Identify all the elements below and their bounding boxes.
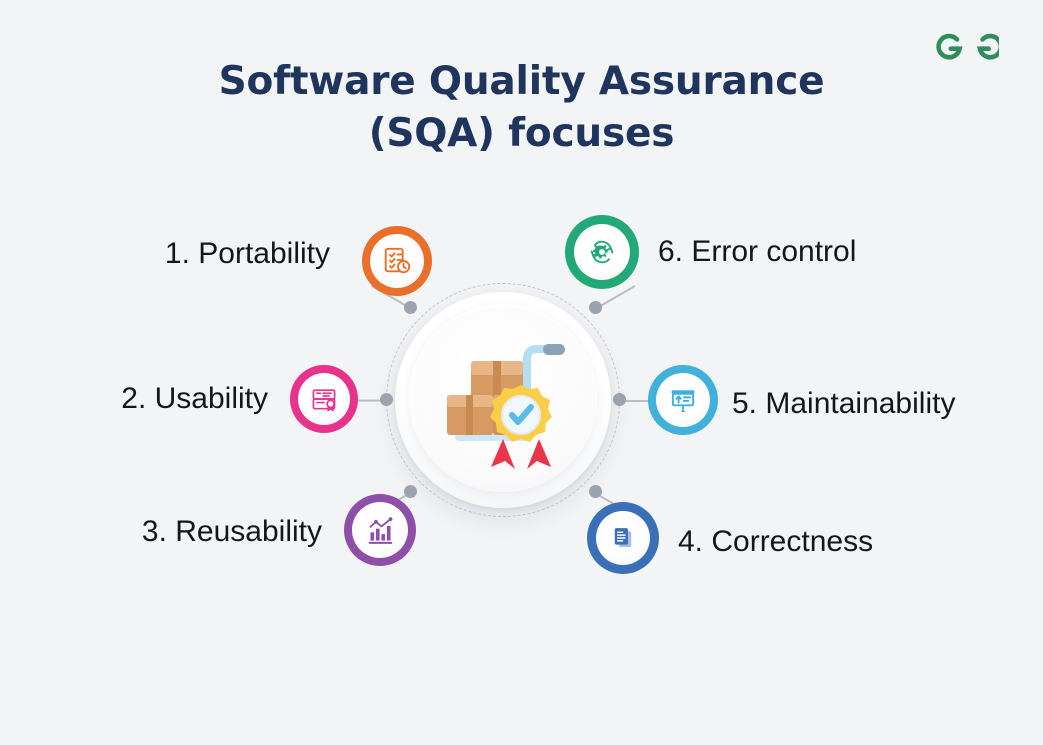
portability-icon-plate bbox=[370, 234, 424, 288]
focus-icon-reusability[interactable] bbox=[344, 494, 416, 566]
page-title-line-1: Software Quality Assurance bbox=[219, 59, 825, 104]
connector-dot-maintainability bbox=[613, 393, 626, 406]
presentation-board-icon bbox=[668, 385, 698, 415]
certificate-card-icon bbox=[309, 384, 339, 414]
page-title: Software Quality Assurance (SQA) focuses bbox=[0, 56, 1043, 160]
error-control-icon-plate bbox=[574, 224, 630, 280]
usability-icon-plate bbox=[298, 373, 350, 425]
gear-refresh-icon bbox=[586, 236, 618, 268]
maintainability-icon-plate bbox=[656, 373, 710, 427]
page-title-line-2: (SQA) focuses bbox=[0, 108, 1043, 160]
focus-icon-maintainability[interactable] bbox=[648, 365, 718, 435]
focus-icon-usability[interactable] bbox=[290, 365, 358, 433]
focus-label-error-control: 6. Error control bbox=[658, 234, 856, 270]
focus-label-correctness: 4. Correctness bbox=[678, 524, 873, 560]
focus-label-maintainability: 5. Maintainability bbox=[732, 386, 955, 422]
center-illustration bbox=[431, 333, 575, 469]
focus-label-reusability: 3. Reusability bbox=[0, 514, 334, 550]
sqa-focuses-infographic: Software Quality Assurance (SQA) focuses bbox=[0, 0, 1043, 745]
focus-label-usability: 2. Usability bbox=[0, 381, 280, 417]
checklist-clock-icon bbox=[381, 245, 413, 277]
focus-icon-error-control[interactable] bbox=[565, 215, 639, 289]
connector-dot-correctness bbox=[589, 485, 602, 498]
bar-chart-analytics-icon bbox=[365, 515, 396, 546]
focus-icon-portability[interactable] bbox=[362, 226, 432, 296]
connector-dot-portability bbox=[404, 301, 417, 314]
correctness-icon-plate bbox=[596, 511, 650, 565]
focus-icon-correctness[interactable] bbox=[587, 502, 659, 574]
connector-dot-error-control bbox=[589, 301, 602, 314]
connector-dot-reusability bbox=[404, 485, 417, 498]
reusability-icon-plate bbox=[352, 502, 408, 558]
focus-label-portability: 1. Portability bbox=[0, 236, 342, 272]
connector-dot-usability bbox=[380, 393, 393, 406]
documents-stack-icon bbox=[609, 524, 637, 552]
